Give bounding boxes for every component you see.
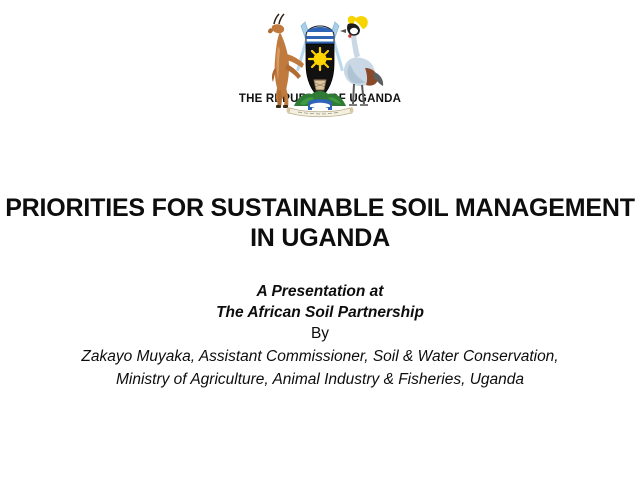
- title-line-2: IN UGANDA: [0, 223, 640, 253]
- slide-header: THE REPUBLIC OF UGANDA: [0, 0, 640, 125]
- subtitle-block: A Presentation at The African Soil Partn…: [0, 281, 640, 391]
- page-title: PRIORITIES FOR SUSTAINABLE SOIL MANAGEME…: [0, 193, 640, 253]
- author-line-1: Zakayo Muyaka, Assistant Commissioner, S…: [0, 345, 640, 368]
- title-line-1: PRIORITIES FOR SUSTAINABLE SOIL MANAGEME…: [0, 193, 640, 223]
- mound-icon: [294, 91, 346, 110]
- presentation-occasion-line-1: A Presentation at: [0, 281, 640, 302]
- uganda-coat-of-arms-icon: [250, 6, 390, 118]
- crane-icon: [340, 16, 383, 105]
- presentation-occasion-line-2: The African Soil Partnership: [0, 302, 640, 323]
- author-line-2: Ministry of Agriculture, Animal Industry…: [0, 368, 640, 391]
- antelope-icon: [268, 14, 304, 108]
- presentation-slide: THE REPUBLIC OF UGANDA: [0, 0, 640, 480]
- sun-icon: [309, 48, 331, 70]
- by-label: By: [0, 323, 640, 345]
- shield-icon: [306, 26, 334, 98]
